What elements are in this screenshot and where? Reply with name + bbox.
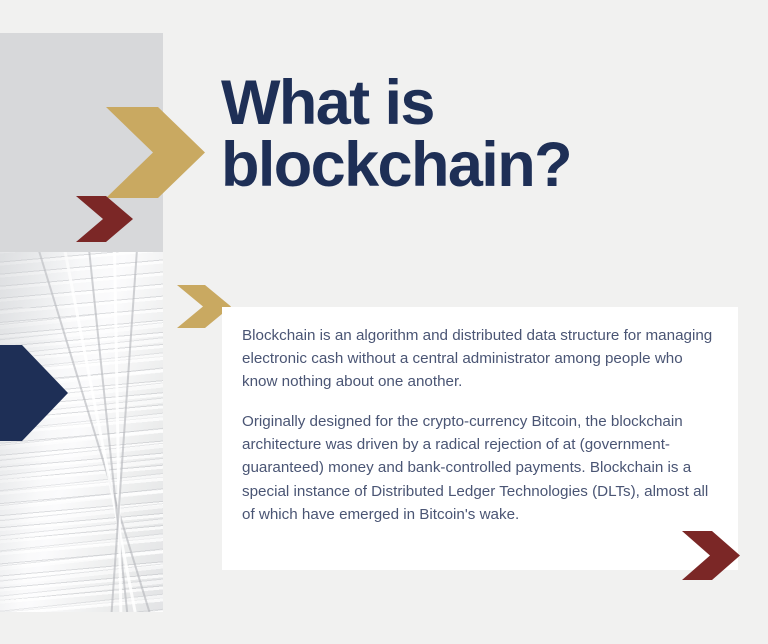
body-paragraph-1: Blockchain is an algorithm and distribut… (242, 324, 716, 393)
chevron-right-gold-large-icon (106, 107, 205, 198)
slide-canvas: What is blockchain? Blockchain is an alg… (0, 0, 768, 644)
page-title: What is blockchain? (221, 73, 741, 196)
arrow-right-navy-icon (0, 345, 68, 441)
body-text-card: Blockchain is an algorithm and distribut… (222, 307, 738, 570)
chevron-right-dark-red-small-icon (76, 196, 133, 242)
chevron-right-dark-red-bottom-icon (682, 531, 740, 580)
body-paragraph-2: Originally designed for the crypto-curre… (242, 410, 716, 525)
